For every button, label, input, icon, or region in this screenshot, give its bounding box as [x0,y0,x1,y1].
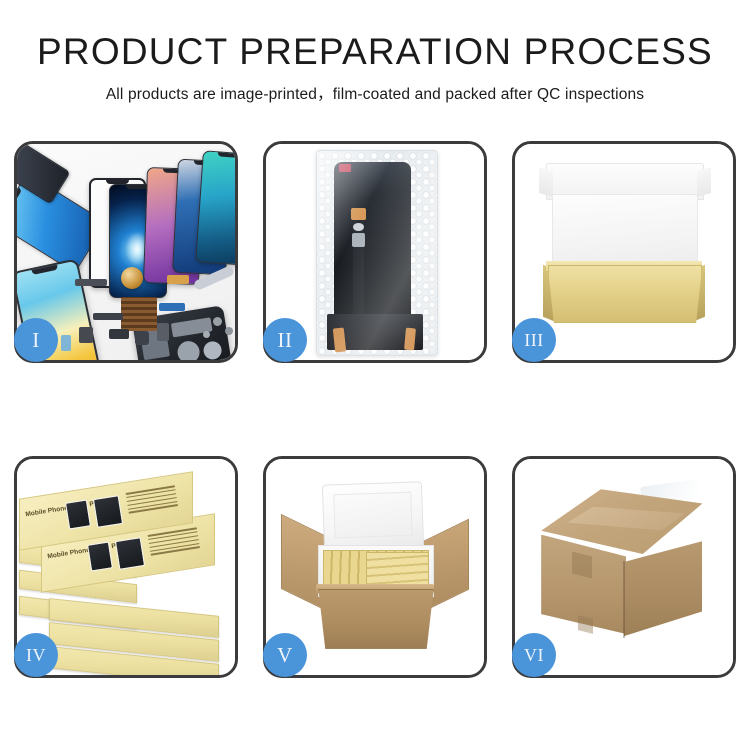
vibrator-part [135,331,149,345]
page-header: PRODUCT PREPARATION PROCESS All products… [0,0,750,104]
process-step-grid: I II [14,141,736,678]
light-blue-part [61,335,71,351]
yellow-box-front [548,265,703,323]
process-step-panel-4[interactable]: Mobile Phone Spare Parts Mobile Phone Sp… [14,456,238,678]
process-step-panel-1[interactable]: I [14,141,238,363]
carton-front-wall [318,589,433,649]
process-step-panel-6[interactable]: VI [512,456,736,678]
screw-part-2 [225,327,233,335]
copper-disc-part [121,267,143,289]
foam-box-lid-inner [333,491,413,538]
process-step-panel-5[interactable]: V [263,456,487,678]
carton-right-face [624,541,702,636]
foam-box-lid [322,481,424,551]
bracket-part [157,323,169,341]
repair-tweezers [193,265,235,291]
step-badge-4: IV [14,633,58,677]
connector-part-2 [93,313,123,320]
carton-corner-seam [623,561,625,639]
flex-cable-part-2 [159,303,185,311]
sim-tray-part [109,329,129,339]
camera-hole [353,223,364,231]
process-step-panel-3[interactable]: III [512,141,736,363]
page-subtitle: All products are image-printed，film-coat… [0,73,750,104]
flex-cable-pad [351,208,367,220]
step-badge-1: I [14,318,58,362]
step-badge-6: VI [512,633,556,677]
bubble-wrap-bag [316,150,438,355]
box-screen-print-1a [65,499,91,529]
phone-teal-gradient [195,150,235,265]
process-step-panel-2[interactable]: II [263,141,487,363]
box-screen-print-2a [87,541,113,571]
step-badge-3: III [512,318,556,362]
lcd-screen-assembly [334,162,411,324]
screw-grid-part [121,297,157,331]
driver-ic-chip [352,233,365,247]
step-badge-2: II [263,318,307,362]
screw-part-3 [203,331,210,338]
connector-right [404,328,415,351]
qc-sticker [339,164,351,172]
button-part [79,327,93,343]
page-title: PRODUCT PREPARATION PROCESS [0,0,750,73]
box-screen-print-2b [115,537,145,570]
screw-part-1 [213,317,222,326]
connector-left [333,328,346,353]
step-badge-5: V [263,633,307,677]
flex-cable-part-1 [167,275,189,284]
carton-tab-lower [578,615,593,634]
connector-part-1 [75,279,107,286]
yellow-boxes-row-2 [366,552,429,589]
box-screen-print-1b [93,495,123,528]
phone-fan-group [17,144,235,278]
